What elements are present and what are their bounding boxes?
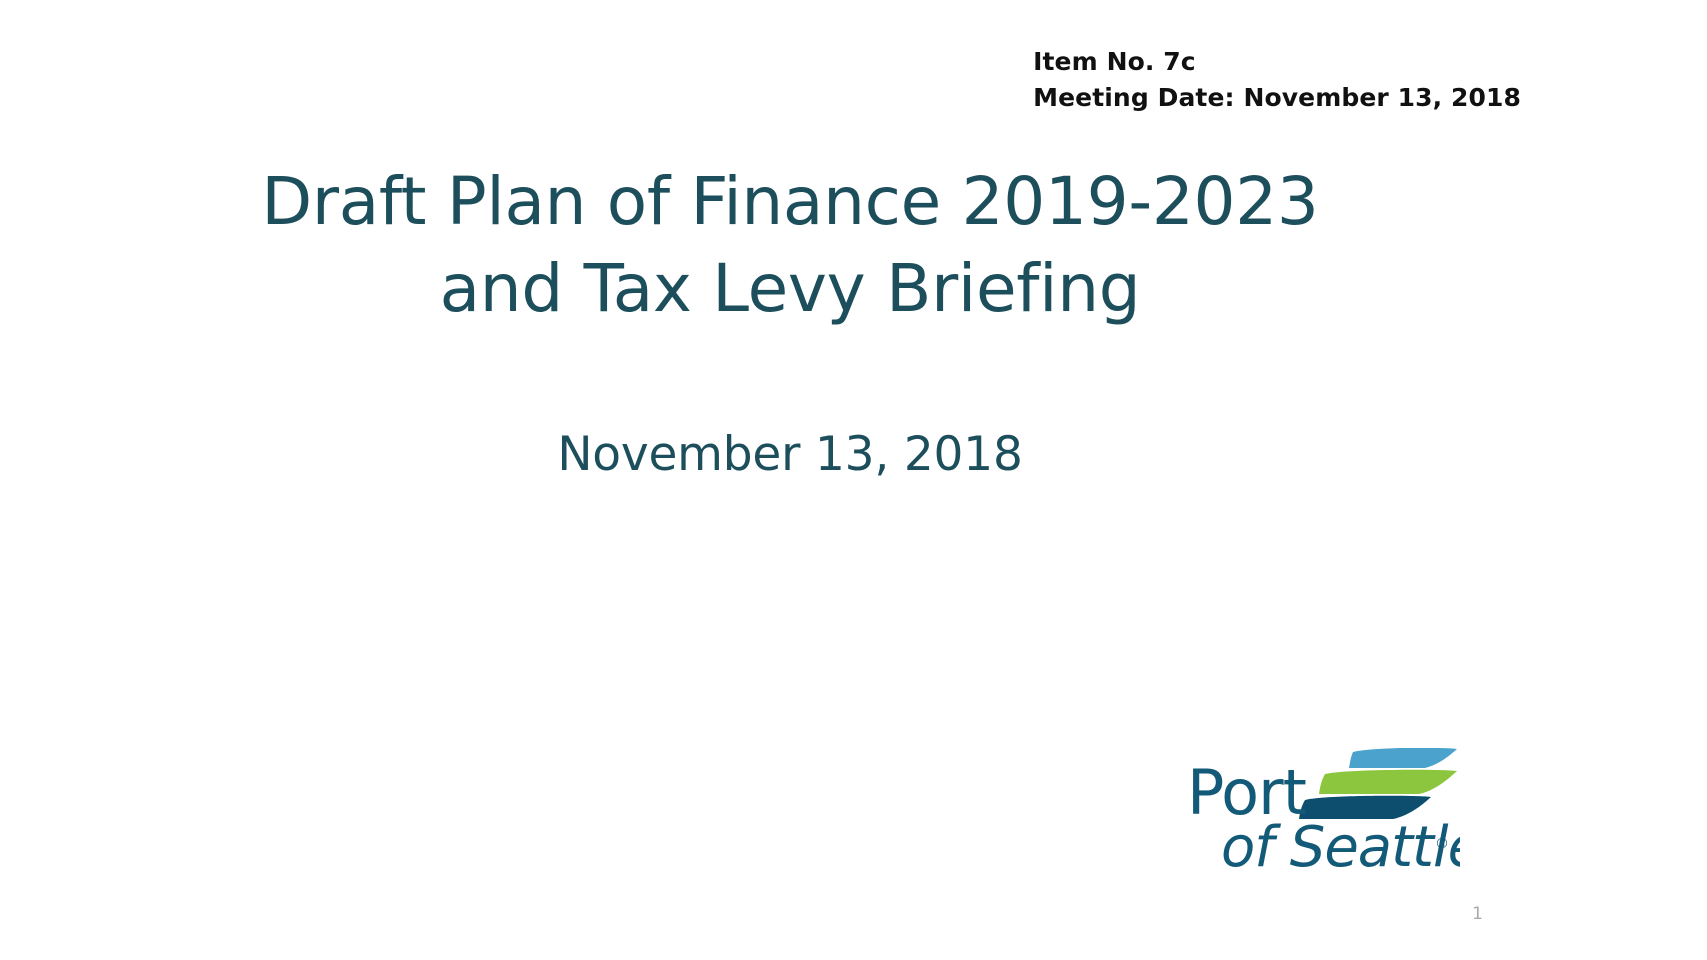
title-line-2: and Tax Levy Briefing: [0, 245, 1580, 332]
title-line-1: Draft Plan of Finance 2019-2023: [0, 158, 1580, 245]
item-number-text: Item No. 7c: [1033, 44, 1521, 80]
logo-swoosh-middle-icon: [1319, 770, 1457, 794]
logo-swoosh-top-icon: [1349, 748, 1457, 768]
page-number: 1: [1472, 906, 1483, 923]
meeting-meta-block: Item No. 7c Meeting Date: November 13, 2…: [1033, 44, 1521, 115]
meeting-date-text: Meeting Date: November 13, 2018: [1033, 80, 1521, 116]
page-title: Draft Plan of Finance 2019-2023 and Tax …: [0, 158, 1580, 332]
slide-canvas: Item No. 7c Meeting Date: November 13, 2…: [0, 0, 1707, 960]
logo-registered-mark: ®: [1435, 836, 1449, 852]
logo-word-of-seattle: of Seattle: [1221, 815, 1460, 878]
presentation-date: November 13, 2018: [0, 426, 1580, 485]
port-of-seattle-logo: Port of Seattle ®: [1185, 748, 1460, 878]
